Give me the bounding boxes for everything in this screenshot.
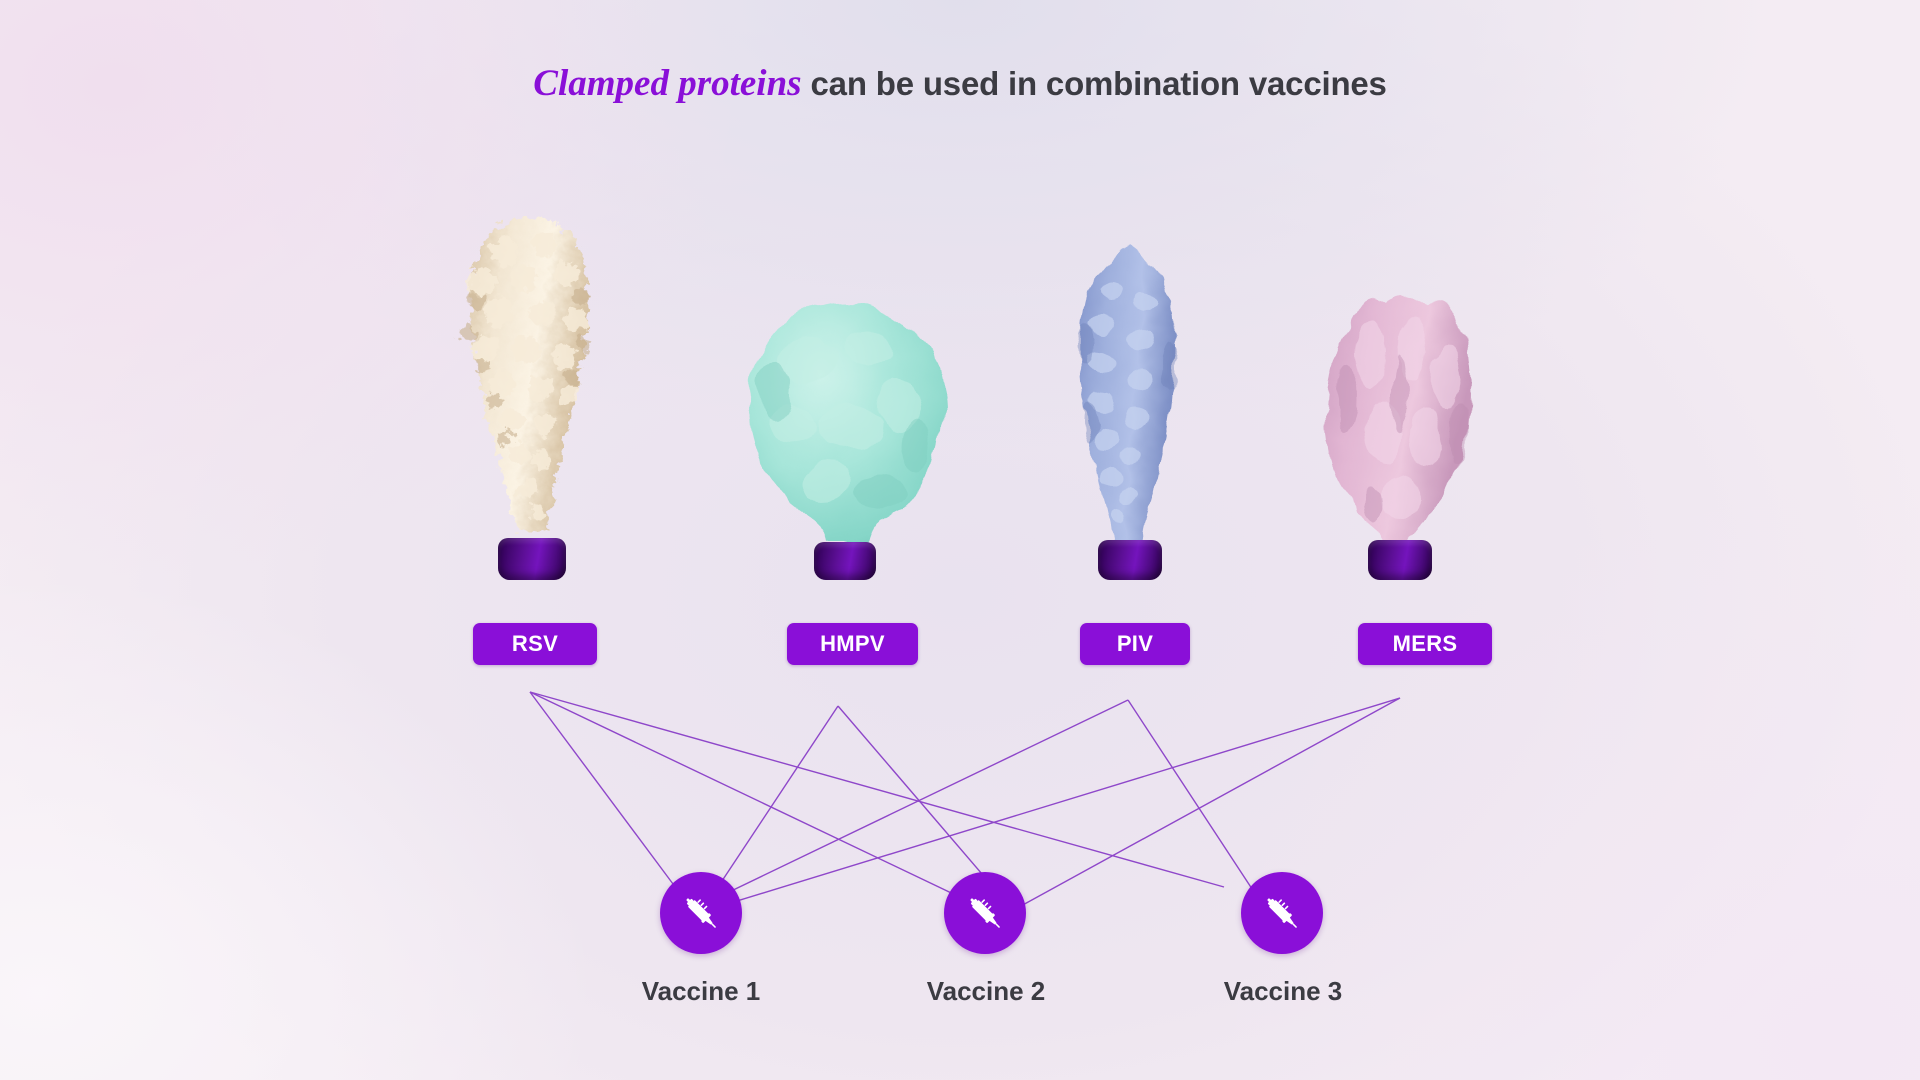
protein-hmpv[interactable] xyxy=(730,285,960,580)
syringe-icon xyxy=(1258,889,1306,937)
badge-rsv[interactable]: RSV xyxy=(473,623,597,665)
edge-piv-vaccine1 xyxy=(700,700,1128,906)
badge-piv[interactable]: PIV xyxy=(1080,623,1190,665)
badge-hmpv-label: HMPV xyxy=(820,631,885,657)
vaccine-label-2: Vaccine 2 xyxy=(866,976,1106,1007)
edge-rsv-vaccine3 xyxy=(530,692,1224,887)
edge-rsv-vaccine2 xyxy=(530,692,966,900)
edge-rsv-vaccine1 xyxy=(530,692,676,888)
mers-protein-model xyxy=(1300,291,1500,546)
vaccine-node-2[interactable] xyxy=(944,872,1026,954)
edge-piv-vaccine3 xyxy=(1128,700,1258,898)
page-title-accent: Clamped proteins xyxy=(533,63,801,104)
rsv-molecular-clamp xyxy=(498,538,566,580)
hmpv-molecular-clamp xyxy=(814,542,876,580)
badge-hmpv[interactable]: HMPV xyxy=(787,623,918,665)
protein-piv[interactable] xyxy=(1040,230,1220,580)
badge-rsv-label: RSV xyxy=(512,631,558,657)
edge-mers-vaccine2 xyxy=(1010,698,1400,912)
edge-hmpv-vaccine2 xyxy=(838,706,1000,895)
protein-mers[interactable] xyxy=(1300,280,1500,580)
syringe-icon xyxy=(961,889,1009,937)
page-title: Clamped proteins can be used in combinat… xyxy=(0,62,1920,105)
vaccine-label-1: Vaccine 1 xyxy=(581,976,821,1007)
mers-molecular-clamp xyxy=(1368,540,1432,580)
piv-molecular-clamp xyxy=(1098,540,1162,580)
syringe-icon xyxy=(677,889,725,937)
edge-hmpv-vaccine1 xyxy=(712,706,838,896)
protein-rsv[interactable] xyxy=(420,200,640,580)
diagram-canvas: Clamped proteins can be used in combinat… xyxy=(0,0,1920,1080)
piv-protein-model xyxy=(1040,241,1220,546)
badge-piv-label: PIV xyxy=(1117,631,1153,657)
vaccine-node-1[interactable] xyxy=(660,872,742,954)
rsv-protein-model xyxy=(420,216,640,546)
page-title-rest: can be used in combination vaccines xyxy=(802,65,1387,102)
hmpv-protein-model xyxy=(730,296,960,546)
badge-mers-label: MERS xyxy=(1393,631,1458,657)
vaccine-node-3[interactable] xyxy=(1241,872,1323,954)
badge-mers[interactable]: MERS xyxy=(1358,623,1492,665)
vaccine-label-3: Vaccine 3 xyxy=(1163,976,1403,1007)
